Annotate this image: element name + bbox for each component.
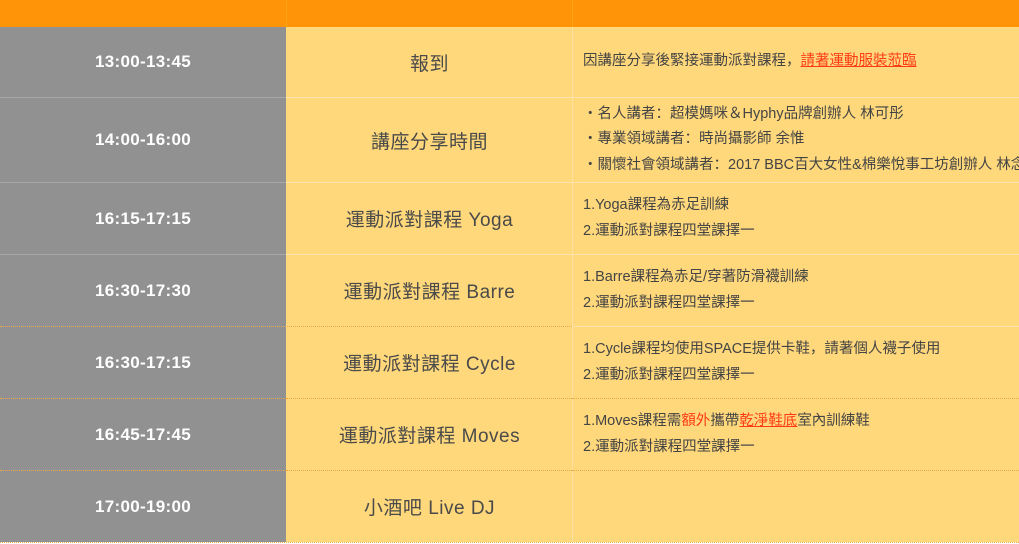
- note-line-group: 1.Cycle課程均使用SPACE提供卡鞋，請著個人襪子使用2.運動派對課程四堂…: [583, 337, 1007, 388]
- cell-time: 14:00-16:00: [0, 97, 286, 182]
- note-emphasis: 額外: [681, 413, 710, 429]
- note-line: 1.Barre課程為赤足/穿著防滑襪訓練: [583, 265, 1007, 290]
- table-row: 14:00-16:00講座分享時間・名人講者：超模媽咪＆Hyphy品牌創辦人 林…: [0, 97, 1019, 182]
- cell-time: 16:30-17:30: [0, 254, 286, 326]
- note-line: 1.Yoga課程為赤足訓練: [583, 193, 1007, 218]
- cell-note: 1.Barre課程為赤足/穿著防滑襪訓練2.運動派對課程四堂課擇一: [573, 254, 1019, 326]
- table-row: 17:00-19:00小酒吧 Live DJ: [0, 470, 1019, 542]
- note-text: 2.運動派對課程四堂課擇一: [583, 439, 755, 455]
- note-line: 1.Cycle課程均使用SPACE提供卡鞋，請著個人襪子使用: [583, 337, 1007, 362]
- note-text: ・關懷社會領域講者：2017 BBC百大女性&棉樂悅事工坊創辦人 林念慈: [583, 157, 1019, 173]
- table-row: 16:15-17:15運動派對課程 Yoga1.Yoga課程為赤足訓練2.運動派…: [0, 182, 1019, 254]
- note-line: ・關懷社會領域講者：2017 BBC百大女性&棉樂悅事工坊創辦人 林念慈: [583, 153, 1019, 178]
- note-text: ・名人講者：超模媽咪＆Hyphy品牌創辦人 林可彤: [583, 106, 904, 122]
- cell-note: 1.Yoga課程為赤足訓練2.運動派對課程四堂課擇一: [573, 182, 1019, 254]
- note-line: 2.運動派對課程四堂課擇一: [583, 363, 1007, 388]
- table-row: 16:30-17:30運動派對課程 Barre1.Barre課程為赤足/穿著防滑…: [0, 254, 1019, 326]
- note-text: 2.運動派對課程四堂課擇一: [583, 367, 755, 383]
- table-row: 16:45-17:45運動派對課程 Moves1.Moves課程需額外攜帶乾淨鞋…: [0, 398, 1019, 470]
- table-row: 16:30-17:15運動派對課程 Cycle1.Cycle課程均使用SPACE…: [0, 326, 1019, 398]
- cell-activity: 運動派對課程 Barre: [287, 254, 572, 326]
- note-line: 1.Moves課程需額外攜帶乾淨鞋底室內訓練鞋: [583, 409, 1007, 434]
- cell-time: 13:00-13:45: [0, 27, 286, 97]
- cell-time: 16:45-17:45: [0, 398, 286, 470]
- note-text: 室內訓練鞋: [797, 413, 870, 429]
- header-cell-time: [0, 0, 286, 27]
- cell-time: 16:15-17:15: [0, 182, 286, 254]
- note-text: 1.Moves課程需: [583, 413, 681, 429]
- note-text: 2.運動派對課程四堂課擇一: [583, 295, 755, 311]
- cell-activity: 運動派對課程 Yoga: [287, 182, 572, 254]
- cell-activity: 講座分享時間: [287, 97, 572, 182]
- note-line: ・名人講者：超模媽咪＆Hyphy品牌創辦人 林可彤: [583, 102, 1019, 127]
- note-line: 2.運動派對課程四堂課擇一: [583, 435, 1007, 460]
- cell-note: 1.Moves課程需額外攜帶乾淨鞋底室內訓練鞋2.運動派對課程四堂課擇一: [573, 398, 1019, 470]
- cell-time: 17:00-19:00: [0, 470, 286, 542]
- note-emphasis: 請著運動服裝蒞臨: [801, 53, 917, 69]
- cell-activity: 小酒吧 Live DJ: [287, 470, 572, 542]
- note-text: 2.運動派對課程四堂課擇一: [583, 223, 755, 239]
- table-row: 13:00-13:45報到因講座分享後緊接運動派對課程，請著運動服裝蒞臨: [0, 27, 1019, 97]
- note-line: ・專業領域講者：時尚攝影師 余惟: [583, 127, 1019, 152]
- note-line-group: 1.Moves課程需額外攜帶乾淨鞋底室內訓練鞋2.運動派對課程四堂課擇一: [583, 409, 1007, 460]
- cell-activity: 運動派對課程 Moves: [287, 398, 572, 470]
- schedule-table: 13:00-13:45報到因講座分享後緊接運動派對課程，請著運動服裝蒞臨14:0…: [0, 0, 1019, 533]
- note-text: 1.Yoga課程為赤足訓練: [583, 197, 729, 213]
- cell-note: [573, 470, 1019, 542]
- cell-note: ・名人講者：超模媽咪＆Hyphy品牌創辦人 林可彤・專業領域講者：時尚攝影師 余…: [573, 97, 1019, 182]
- note-line-group: 因講座分享後緊接運動派對課程，請著運動服裝蒞臨: [583, 49, 1007, 74]
- header-cell-note: [573, 0, 1019, 27]
- note-line-group: 1.Barre課程為赤足/穿著防滑襪訓練2.運動派對課程四堂課擇一: [583, 265, 1007, 316]
- note-line: 因講座分享後緊接運動派對課程，請著運動服裝蒞臨: [583, 49, 1007, 74]
- note-text: 攜帶: [710, 413, 739, 429]
- header-cell-activity: [287, 0, 572, 27]
- cell-note: 1.Cycle課程均使用SPACE提供卡鞋，請著個人襪子使用2.運動派對課程四堂…: [573, 326, 1019, 398]
- cell-note: 因講座分享後緊接運動派對課程，請著運動服裝蒞臨: [573, 27, 1019, 97]
- note-emphasis: 乾淨鞋底: [739, 413, 797, 429]
- cell-time: 16:30-17:15: [0, 326, 286, 398]
- note-text: ・專業領域講者：時尚攝影師 余惟: [583, 131, 805, 147]
- cell-activity: 報到: [287, 27, 572, 97]
- table-body: 13:00-13:45報到因講座分享後緊接運動派對課程，請著運動服裝蒞臨14:0…: [0, 27, 1019, 542]
- note-text: 1.Barre課程為赤足/穿著防滑襪訓練: [583, 269, 809, 285]
- table-header-band: [0, 0, 1019, 27]
- cell-activity: 運動派對課程 Cycle: [287, 326, 572, 398]
- note-line: 2.運動派對課程四堂課擇一: [583, 219, 1007, 244]
- note-line: 2.運動派對課程四堂課擇一: [583, 291, 1007, 316]
- note-text: 因講座分享後緊接運動派對課程，: [583, 53, 801, 69]
- note-line-group: 1.Yoga課程為赤足訓練2.運動派對課程四堂課擇一: [583, 193, 1007, 244]
- note-text: 1.Cycle課程均使用SPACE提供卡鞋，請著個人襪子使用: [583, 341, 940, 357]
- note-line-group: ・名人講者：超模媽咪＆Hyphy品牌創辦人 林可彤・專業領域講者：時尚攝影師 余…: [583, 102, 1019, 178]
